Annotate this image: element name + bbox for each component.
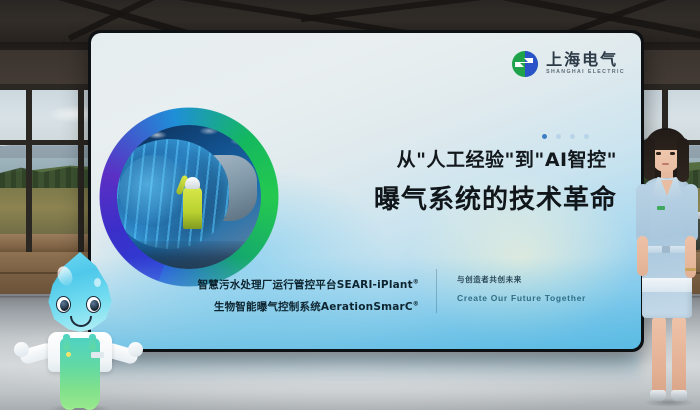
presenter-leg-right bbox=[672, 316, 686, 394]
slide[interactable]: 上海电气 SHANGHAI ELECTRIC 从"人工经验"到"AI智控" 曝气… bbox=[91, 33, 641, 349]
pagination-dot-4[interactable] bbox=[584, 134, 589, 139]
presenter-hair-side-right bbox=[677, 138, 689, 182]
presenter-hair-side-left bbox=[644, 138, 655, 180]
mascot-eye-right bbox=[86, 296, 101, 313]
presenter-arm-right bbox=[684, 184, 698, 242]
brand-name-en: SHANGHAI ELECTRIC bbox=[546, 70, 625, 75]
product-name-2-text: 生物智能曝气控制系统AerationSmarC bbox=[214, 301, 413, 313]
headline-line-1: 从"人工经验"到"AI智控" bbox=[287, 145, 617, 172]
presenter-avatar bbox=[628, 128, 700, 410]
slide-pagination[interactable] bbox=[542, 134, 589, 139]
mascot-eye-left bbox=[56, 296, 71, 313]
scene-stage: 上海电气 SHANGHAI ELECTRIC 从"人工经验"到"AI智控" 曝气… bbox=[0, 0, 700, 410]
mascot-name-badge bbox=[91, 352, 104, 358]
presenter-bracelet bbox=[685, 268, 696, 271]
screen-floor-reflection bbox=[92, 352, 640, 386]
pagination-dot-2[interactable] bbox=[556, 134, 561, 139]
product-names: 智慧污水处理厂运行管控平台SEARI-iPlant® 生物智能曝气控制系统Aer… bbox=[151, 277, 419, 314]
water-droplet-mascot bbox=[18, 252, 140, 410]
presentation-display[interactable]: 上海电气 SHANGHAI ELECTRIC 从"人工经验"到"AI智控" 曝气… bbox=[88, 30, 644, 352]
shanghai-electric-logo-icon bbox=[511, 50, 539, 78]
footer-divider bbox=[436, 269, 437, 313]
hero-photo bbox=[117, 125, 261, 269]
pagination-dot-1[interactable] bbox=[542, 134, 547, 139]
slide-headline: 从"人工经验"到"AI智控" 曝气系统的技术革命 bbox=[287, 145, 617, 216]
brand-name-cn: 上海电气 bbox=[546, 52, 625, 68]
presenter-leg-left bbox=[652, 316, 666, 394]
presenter-dress-stripe bbox=[642, 278, 692, 292]
presenter-shoe-left bbox=[650, 390, 666, 401]
product-name-1-text: 智慧污水处理厂运行管控平台SEARI-iPlant bbox=[198, 279, 413, 291]
presenter-belt-buckle bbox=[662, 246, 670, 253]
mascot-head-highlight bbox=[94, 278, 101, 287]
product-name-1: 智慧污水处理厂运行管控平台SEARI-iPlant® bbox=[151, 277, 419, 292]
mascot-button bbox=[66, 352, 71, 357]
registered-mark: ® bbox=[413, 301, 419, 308]
tagline: 与创造者共创未来 Create Our Future Together bbox=[457, 274, 586, 303]
presenter-forearm-left bbox=[637, 236, 648, 276]
worker-helmet bbox=[185, 177, 200, 189]
brand-logo: 上海电气 SHANGHAI ELECTRIC bbox=[511, 50, 625, 78]
mascot-hand-right bbox=[128, 342, 143, 357]
product-name-2: 生物智能曝气控制系统AerationSmarC® bbox=[151, 299, 419, 314]
turbine-digital-overlay bbox=[117, 139, 229, 249]
tagline-cn: 与创造者共创未来 bbox=[457, 274, 586, 285]
window-frame-vertical bbox=[78, 84, 84, 256]
presenter-eye-left bbox=[656, 152, 661, 155]
window-frame-vertical bbox=[26, 84, 32, 256]
slide-footer-band: 智慧污水处理厂运行管控平台SEARI-iPlant® 生物智能曝气控制系统Aer… bbox=[91, 257, 641, 349]
brand-text: 上海电气 SHANGHAI ELECTRIC bbox=[546, 52, 625, 75]
pagination-dot-3[interactable] bbox=[570, 134, 575, 139]
presenter-arm-left bbox=[636, 184, 650, 242]
presenter-badge-pin bbox=[657, 206, 665, 210]
worker-body bbox=[183, 187, 202, 229]
headline-line-2: 曝气系统的技术革命 bbox=[287, 179, 617, 216]
tagline-en: Create Our Future Together bbox=[457, 293, 586, 303]
registered-mark: ® bbox=[413, 279, 419, 286]
presenter-eye-right bbox=[670, 152, 675, 155]
mascot-hand-left bbox=[14, 342, 29, 357]
mascot-strap-right bbox=[89, 334, 96, 350]
presenter-shoe-right bbox=[671, 390, 687, 401]
mascot-strap-left bbox=[63, 334, 70, 350]
presenter-forearm-right bbox=[685, 236, 696, 278]
